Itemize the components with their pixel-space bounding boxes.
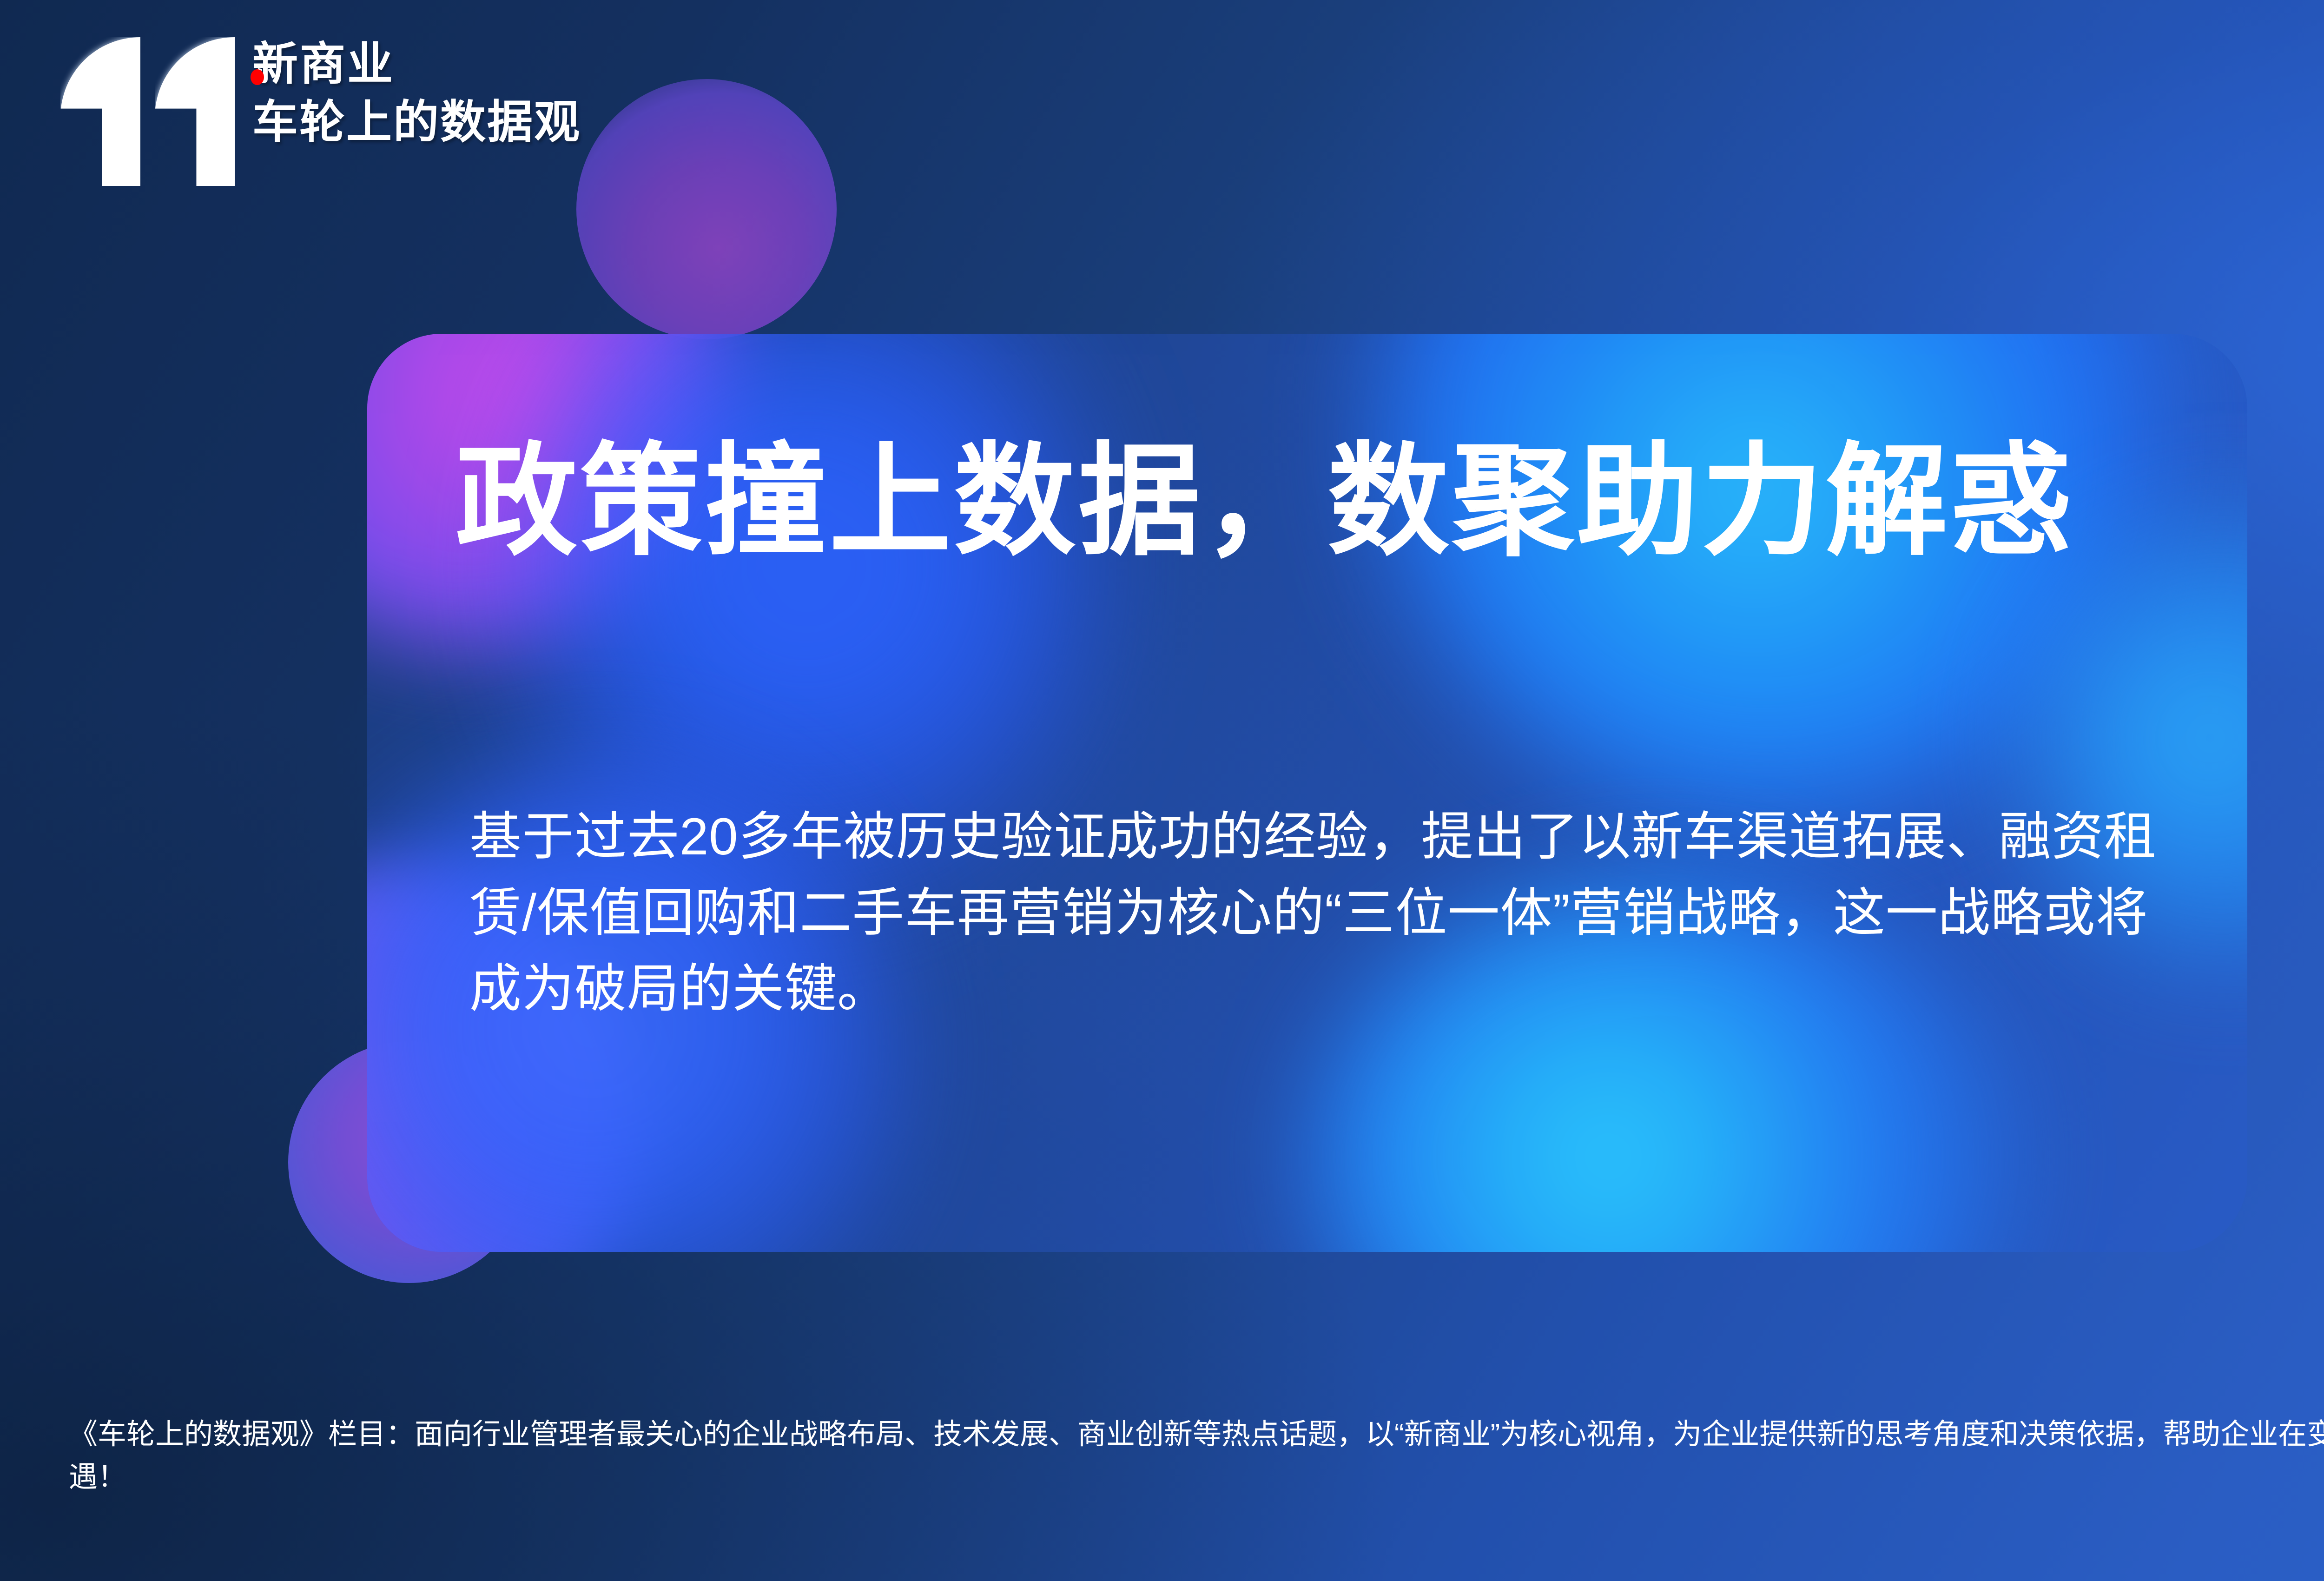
footer-description: 《车轮上的数据观》栏目：面向行业管理者最关心的企业战略布局、技术发展、商业创新等… bbox=[69, 1413, 2324, 1499]
quote-glyph-right bbox=[155, 37, 235, 186]
brand-name: 新商业 bbox=[252, 40, 581, 88]
purple-orb-spill-top bbox=[576, 79, 837, 339]
card-content: 政策撞上数据，数聚助力解惑 基于过去20多年被历史验证成功的经验，提出了以新车渠… bbox=[367, 334, 2247, 1252]
quote-open-icon bbox=[60, 37, 235, 186]
content-card: 政策撞上数据，数聚助力解惑 基于过去20多年被历史验证成功的经验，提出了以新车渠… bbox=[367, 334, 2247, 1252]
brand-column-title: 车轮上的数据观 bbox=[252, 98, 581, 146]
brand-name-label: 新商业 bbox=[252, 38, 395, 89]
quote-glyph-left bbox=[60, 37, 140, 186]
brand-accent-dot bbox=[251, 69, 264, 85]
card-body-text: 基于过去20多年被历史验证成功的经验，提出了以新车渠道拓展、融资租赁/保值回购和… bbox=[469, 799, 2171, 1027]
brand-logo-text: 新商业 车轮上的数据观 bbox=[252, 37, 581, 146]
poster-canvas: 新商业 车轮上的数据观 政策撞上数据，数聚助力解惑 基于过去20多年被历史验证成… bbox=[0, 0, 2324, 1581]
page-title: 政策撞上数据，数聚助力解惑 bbox=[456, 436, 2075, 568]
brand-logo: 新商业 车轮上的数据观 bbox=[60, 37, 581, 186]
